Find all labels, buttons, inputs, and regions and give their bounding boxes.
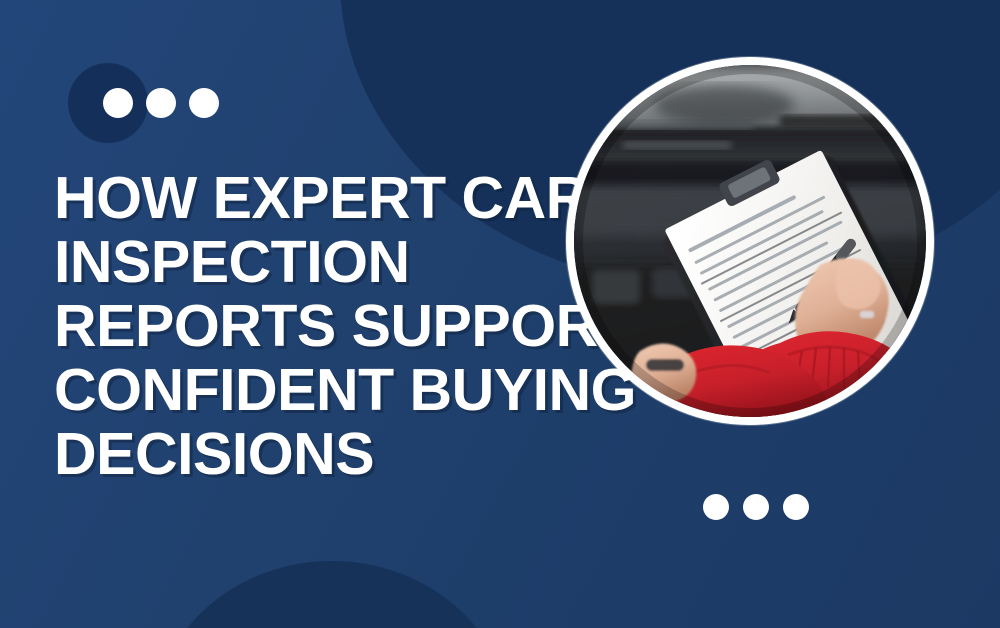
three-dots-decoration-bottom (703, 494, 809, 520)
circular-photo-frame (566, 57, 934, 425)
car-inspection-photo (574, 65, 926, 417)
dot-icon (743, 494, 769, 520)
dot-icon (703, 494, 729, 520)
dot-icon (783, 494, 809, 520)
dot-icon (103, 88, 133, 118)
blog-header-banner: HOW EXPERT CAR INSPECTION REPORTS SUPPOR… (0, 0, 1000, 628)
dot-icon (146, 88, 176, 118)
three-dots-decoration-top (103, 88, 219, 118)
dot-icon (189, 88, 219, 118)
